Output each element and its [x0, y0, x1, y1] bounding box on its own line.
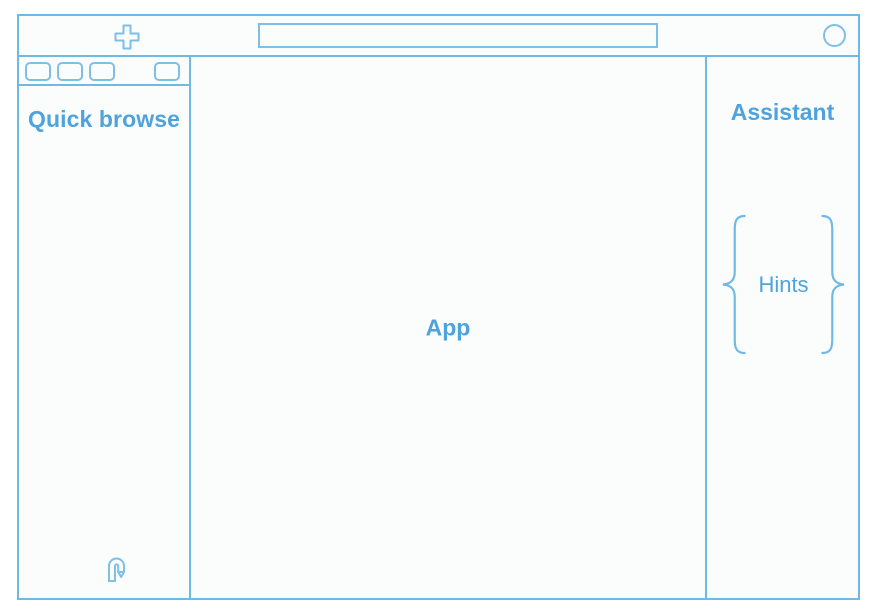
toolbar-button-3[interactable] [89, 62, 115, 81]
search-input[interactable] [258, 23, 658, 48]
toolbar-button-4[interactable] [154, 62, 180, 81]
toolbar-button-1[interactable] [25, 62, 51, 81]
plus-icon[interactable] [114, 24, 140, 50]
assistant-title: Assistant [707, 99, 858, 126]
hints-block: Hints [717, 212, 850, 357]
sidebar-title: Quick browse [19, 105, 189, 135]
app-label: App [191, 314, 705, 341]
sidebar-quick-browse: Quick browse [19, 57, 191, 598]
wireframe-canvas: Quick browse App Assistant [0, 0, 879, 616]
hints-label: Hints [717, 272, 850, 298]
avatar-circle-icon[interactable] [823, 24, 846, 47]
assistant-panel: Assistant Hints [705, 57, 858, 598]
u-turn-arrow-icon[interactable] [104, 554, 136, 584]
top-bar [19, 16, 858, 57]
window-frame: Quick browse App Assistant [17, 14, 860, 600]
toolbar-button-2[interactable] [57, 62, 83, 81]
app-content-area[interactable]: App [191, 57, 705, 598]
sidebar-toolbar [19, 57, 189, 86]
window-body: Quick browse App Assistant [19, 57, 858, 598]
